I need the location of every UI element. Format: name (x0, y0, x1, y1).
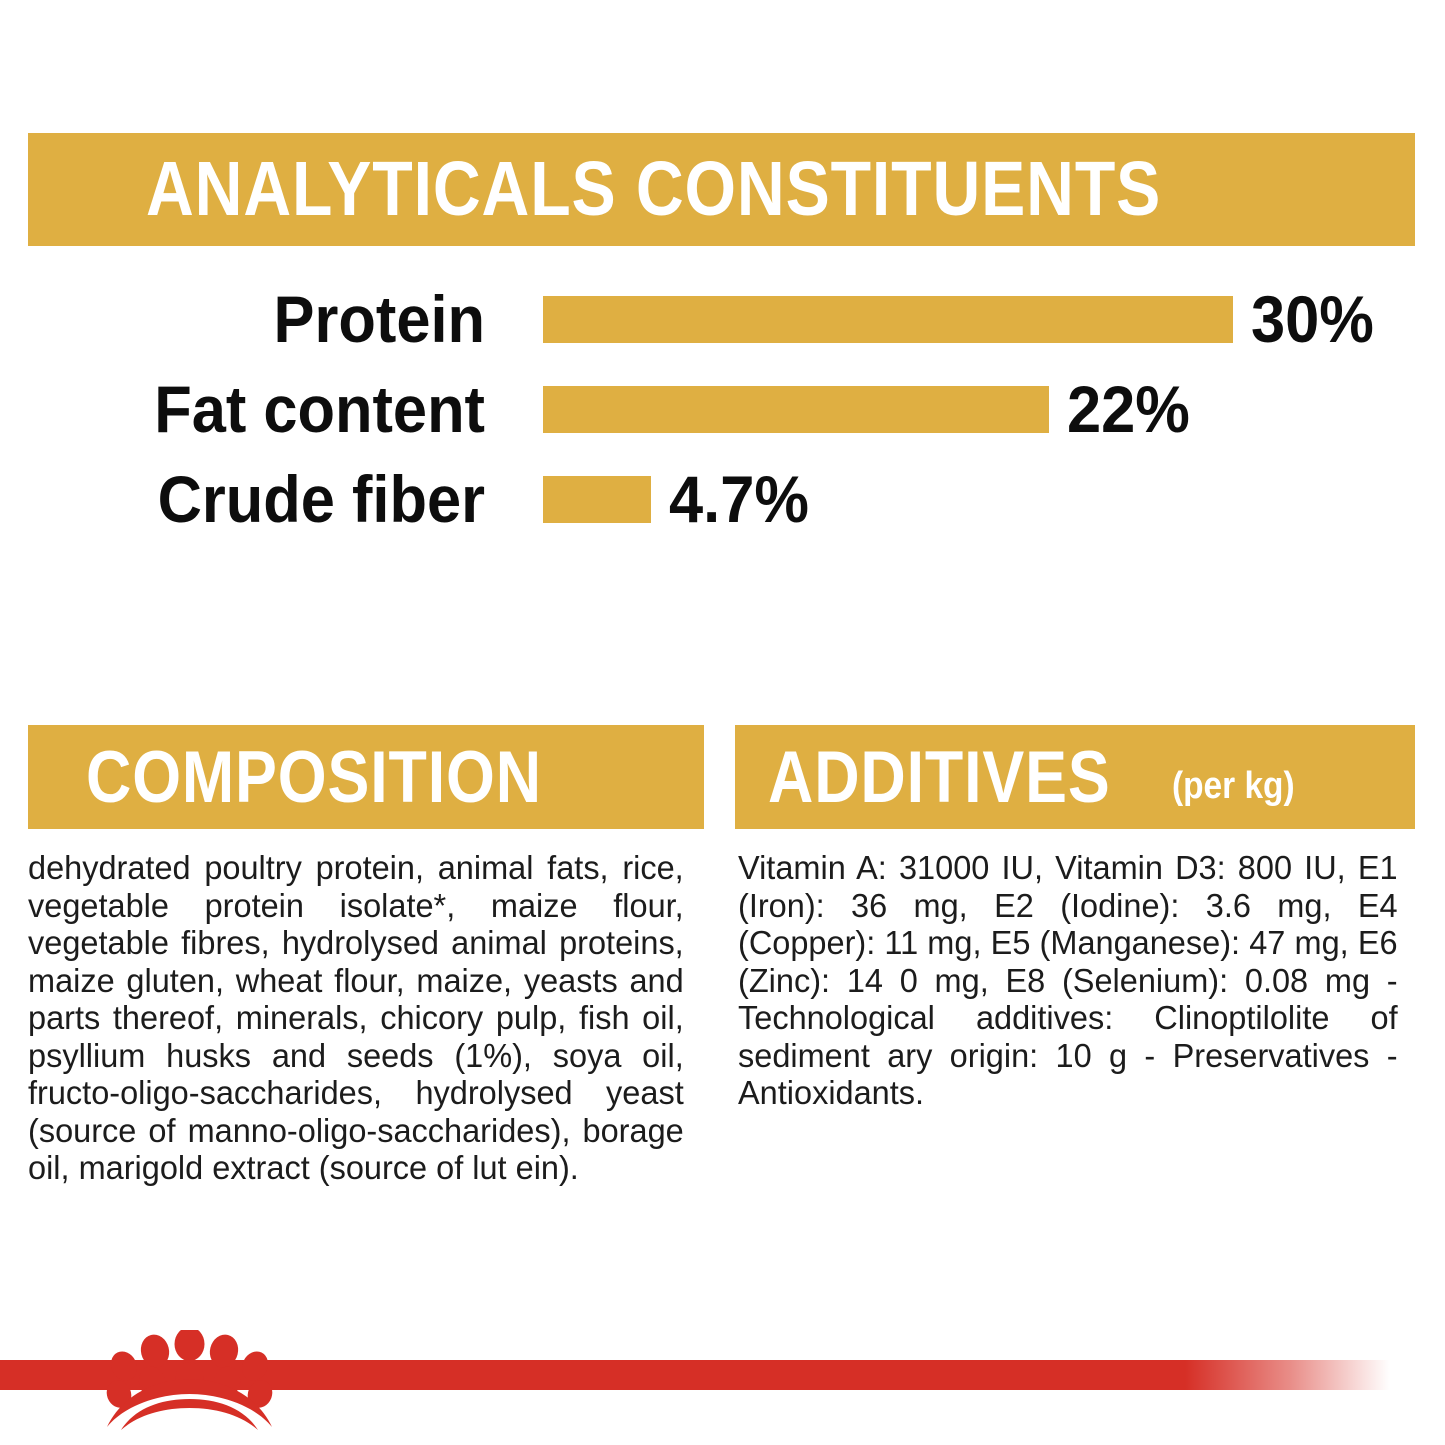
royal-canin-crown-icon (97, 1330, 282, 1430)
bar-value-fat-content: 22% (1067, 379, 1190, 439)
analyticals-constituents-banner: ANALYTICALS CONSTITUENTS (28, 133, 1415, 246)
bar-track-protein: 30% (543, 289, 1383, 349)
chart-bar-row-crude-fiber: Crude fiber 4.7% (0, 469, 1445, 529)
bar-fill-fat-content (543, 386, 1049, 433)
bar-track-fat-content: 22% (543, 379, 1199, 439)
chart-bar-row-protein: Protein 30% (0, 289, 1445, 349)
additives-body-text: Vitamin A: 31000 IU, Vitamin D3: 800 IU,… (738, 850, 1398, 1113)
bar-fill-protein (543, 296, 1233, 343)
analyticals-constituents-title: ANALYTICALS CONSTITUENTS (146, 151, 1161, 228)
composition-banner: COMPOSITION (28, 725, 704, 829)
footer-brand-strip (0, 1330, 1445, 1445)
chart-bar-row-fat-content: Fat content 22% (0, 379, 1445, 439)
bar-label-protein: Protein (34, 289, 485, 349)
additives-banner: ADDITIVES (per kg) (735, 725, 1415, 829)
additives-title: ADDITIVES (768, 741, 1111, 814)
analyticals-constituents-chart: Protein 30% Fat content 22% Crude fiber … (0, 289, 1445, 559)
additives-subtitle-per-kg: (per kg) (1172, 767, 1295, 805)
bar-fill-crude-fiber (543, 476, 651, 523)
bar-label-fat-content: Fat content (34, 379, 485, 439)
composition-body-text: dehydrated poultry protein, animal fats,… (28, 850, 684, 1188)
bar-value-crude-fiber: 4.7% (669, 469, 809, 529)
bar-value-protein: 30% (1251, 289, 1374, 349)
bar-track-crude-fiber: 4.7% (543, 469, 819, 529)
bar-label-crude-fiber: Crude fiber (34, 469, 485, 529)
composition-title: COMPOSITION (86, 741, 542, 814)
